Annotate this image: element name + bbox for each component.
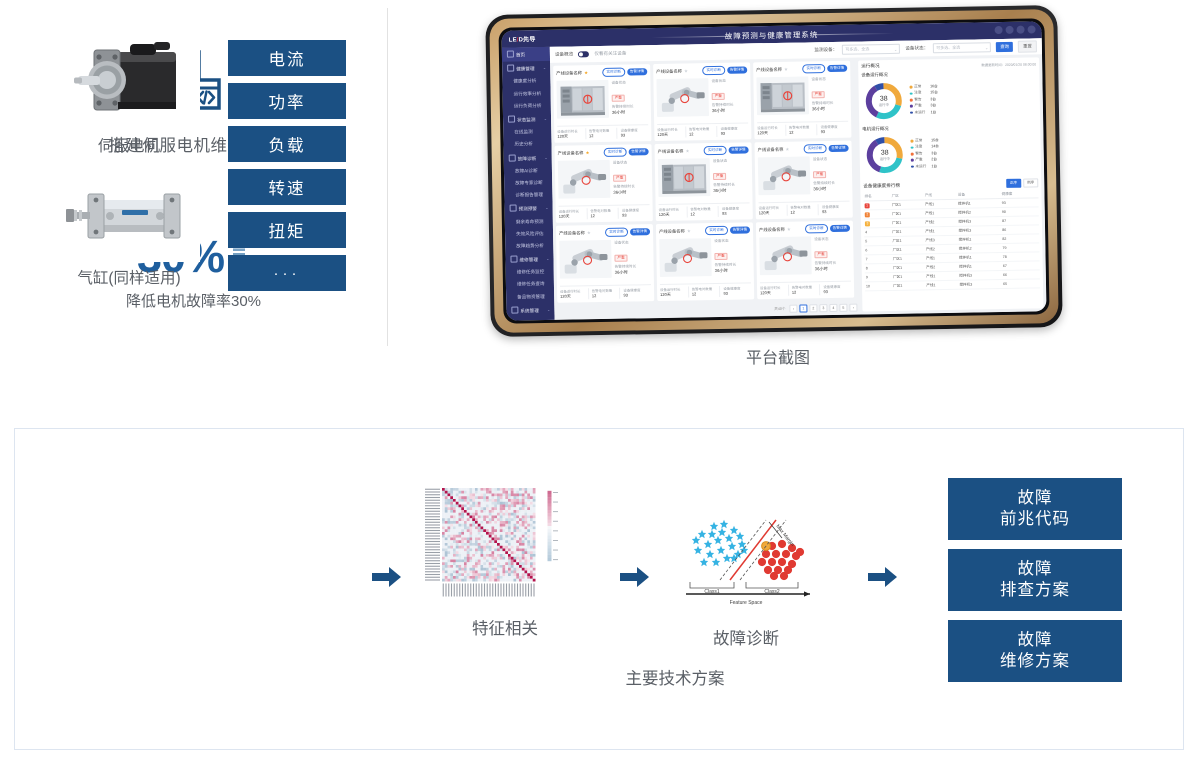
star-icon[interactable]: ★ <box>687 228 691 234</box>
arrow-right-icon <box>372 565 402 589</box>
star-icon[interactable]: ★ <box>587 230 591 236</box>
sidebar-item-1[interactable]: 健康管理⌄ <box>502 61 550 76</box>
legend-color-dot <box>910 92 913 95</box>
legend-row: 未运行 1台 <box>911 164 939 169</box>
sidebar-item-7[interactable]: 历史分析 <box>503 138 551 151</box>
svg-text:38: 38 <box>880 96 888 103</box>
device-status-label: 设备状态： <box>905 45 928 51</box>
status-value: 严重 <box>614 255 627 262</box>
metric-value: 93 <box>822 209 850 214</box>
arrow-right-icon <box>868 565 898 589</box>
rank-badge: 2 <box>865 212 870 217</box>
legend-row: 未运行 1台 <box>910 110 938 115</box>
device-metric: 设备运行时长120天 <box>559 208 587 219</box>
legend-color-dot <box>911 146 914 149</box>
device-card-title: 产线设备名称 <box>758 146 784 152</box>
output-line2: 前兆代码 <box>1000 509 1070 530</box>
device-card-title: 产线设备名称 <box>558 150 584 156</box>
legend-value: 3台 <box>930 103 936 108</box>
device-status-donut: 38 运行中 <box>861 79 906 124</box>
page-button-4[interactable]: 4 <box>829 304 837 312</box>
sidebar-item-13[interactable]: 剩余寿命预测 <box>505 215 553 228</box>
metric-value: 12 <box>689 131 717 136</box>
svg-text:运行中: 运行中 <box>880 156 891 161</box>
sidebar-item-label: 维修任务查询 <box>517 281 545 286</box>
donut2-row: 38 运行中 正常 15台 注意 14台 警告 3台 严重 2台 未运行 1台 <box>862 130 1038 177</box>
motor-status-donut: 38 运行中 <box>862 133 907 178</box>
sidebar-item-8[interactable]: 故障诊断⌄ <box>504 150 552 165</box>
alarm-duration-value: 36小时 <box>613 189 649 196</box>
metric-value: 12 <box>789 129 817 134</box>
status-value: 严重 <box>814 251 827 258</box>
star-icon[interactable]: ★ <box>784 66 788 72</box>
metric-value: 93 <box>821 129 849 134</box>
sidebar-item-label: 首页 <box>516 52 525 57</box>
star-icon[interactable]: ★ <box>685 148 689 154</box>
rank-cell: 厂区1 <box>892 281 925 291</box>
alarm-detail-button[interactable]: 告警详情 <box>730 226 750 233</box>
legend-color-dot <box>911 153 914 156</box>
sidebar-item-17[interactable]: 维修任务监控 <box>506 266 554 279</box>
realtime-diagnose-button[interactable]: 实时诊断 <box>802 64 825 73</box>
monitor-device-select[interactable]: 可多选、全选⌄ <box>842 44 900 55</box>
alarm-detail-button[interactable]: 告警详情 <box>827 65 847 72</box>
status-value: 严重 <box>813 171 826 178</box>
sidebar-item-11[interactable]: 诊断报告管理 <box>504 189 552 202</box>
tablet-bezel: LE/D先导 故障预测与健康管理系统 <box>489 9 1058 333</box>
metric-value: 12 <box>692 291 720 296</box>
device-metric: 设备健康度93 <box>719 285 751 297</box>
legend-value: 2台 <box>931 157 937 162</box>
overview-updated-time: 数据更新时间：2020/01/20 08:00:00 <box>981 61 1036 67</box>
stage-feature-correlation: 特征相关 <box>420 482 590 639</box>
device-thumbnail <box>758 156 811 195</box>
device-servo-motor-label: 伺服电机 <box>58 134 200 156</box>
alarm-detail-button[interactable]: 告警详情 <box>830 225 850 232</box>
device-card-title: 产线设备名称 <box>756 66 782 72</box>
status-value: 严重 <box>812 91 825 98</box>
legend-color-dot <box>910 99 913 102</box>
device-metric: 设备健康度93 <box>818 204 850 216</box>
legend-value: 15台 <box>931 138 939 143</box>
metric-value: 12 <box>790 209 818 214</box>
device-card-title: 产线设备名称 <box>556 70 582 76</box>
device-cylinder: 气缸(同样适用) <box>58 170 200 288</box>
sidebar-item-14[interactable]: 失效风险评估 <box>505 227 553 240</box>
legend-name: 正常 <box>914 84 928 89</box>
svg-text:Feature Space: Feature Space <box>730 600 763 606</box>
realtime-diagnose-button[interactable]: 实时诊断 <box>805 224 828 233</box>
device-card[interactable]: 产线设备名称 ★ 实时诊断 告警详情 设备状态 严重 告警持续时长 36小时 设… <box>553 64 651 143</box>
device-metric: 设备健康度93 <box>717 125 749 137</box>
device-metric: 告警电对数量12 <box>788 284 820 296</box>
realtime-diagnose-button[interactable]: 实时诊断 <box>702 66 725 75</box>
metric-value: 12 <box>590 213 618 218</box>
sidebar-item-label: 历史分析 <box>514 142 532 147</box>
correlation-heatmap <box>420 482 590 600</box>
sidebar-item-label: 运行效率分析 <box>514 91 542 96</box>
app-screen: LE/D先导 故障预测与健康管理系统 <box>502 21 1047 320</box>
sidebar-item-5[interactable]: 状态监测⌄ <box>503 112 551 127</box>
sidebar-item-10[interactable]: 故障专家诊断 <box>504 177 552 190</box>
legend-value: 1台 <box>931 110 937 115</box>
device-metric: 告警电对数量12 <box>686 206 718 218</box>
device-metric: 设备运行时长120天 <box>759 205 787 216</box>
device-card[interactable]: 产线设备名称 ★ 实时诊断 告警详情 设备状态 严重 告警持续时长 36小时 设… <box>756 221 854 300</box>
app-sidebar[interactable]: 首页健康管理⌄健康度分析运行效率分析运行负荷分析状态监测⌄在线监测历史分析故障诊… <box>502 47 555 321</box>
realtime-diagnose-button[interactable]: 实时诊断 <box>602 68 625 77</box>
sidebar-item-9[interactable]: 故障AI诊断 <box>504 165 552 178</box>
status-value: 严重 <box>613 175 626 182</box>
sidebar-item-16[interactable]: 维修管理⌄ <box>505 252 553 267</box>
alarm-detail-button[interactable]: 告警详情 <box>728 146 748 153</box>
monitor-icon <box>508 116 515 123</box>
sidebar-item-3[interactable]: 运行效率分析 <box>503 87 551 100</box>
metric-value: 12 <box>792 289 820 294</box>
device-metric: 设备运行时长120天 <box>660 287 688 298</box>
pagination[interactable]: 共40个 ‹ 12345 › <box>774 304 857 313</box>
device-cylinder-label: 气缸(同样适用) <box>58 266 200 288</box>
sidebar-item-2[interactable]: 健康度分析 <box>502 75 550 88</box>
sidebar-item-label: 失效风险评估 <box>516 231 544 236</box>
legend-row: 严重 2台 <box>911 157 939 162</box>
device-card[interactable]: 产线设备名称 ★ 实时诊断 告警详情 设备状态 严重 告警持续时长 36小时 设… <box>655 142 753 221</box>
star-icon[interactable]: ★ <box>684 68 688 74</box>
device-card[interactable]: 产线设备名称 ★ 实时诊断 告警详情 设备状态 严重 告警持续时长 36小时 设… <box>656 222 754 301</box>
svg-text:Class1: Class1 <box>704 589 720 595</box>
legend-value: 1台 <box>931 164 937 169</box>
sidebar-item-0[interactable]: 首页 <box>502 47 550 62</box>
user-icon[interactable] <box>1028 25 1036 33</box>
metric-value: 120天 <box>560 293 588 299</box>
wrench-icon <box>510 256 517 263</box>
metric-value: 12 <box>592 293 620 298</box>
sidebar-item-20[interactable]: 系统管理⌄ <box>506 303 554 318</box>
legend-color-dot <box>910 111 913 114</box>
star-icon[interactable]: ★ <box>584 70 588 76</box>
signal-box-1: 功率 <box>228 83 346 119</box>
signal-list: 电流功率负载转速扭矩··· <box>228 40 346 298</box>
heart-icon <box>507 65 514 72</box>
alarm-detail-button[interactable]: 告警详情 <box>727 66 747 73</box>
app-main: 设备概览 仅看有关注设备 监测设备： 可多选、全选⌄ 设备状态： 可多选、全选⌄… <box>550 38 1047 320</box>
sidebar-item-label: 诊断报告管理 <box>515 192 543 197</box>
sidebar-item-6[interactable]: 在线监测 <box>503 126 551 139</box>
star-icon[interactable]: ★ <box>787 226 791 232</box>
legend-color-dot <box>910 86 913 89</box>
main-scheme-caption: 主要技术方案 <box>560 665 790 689</box>
sidebar-item-label: 维修管理 <box>519 257 537 262</box>
legend-name: 未运行 <box>915 110 929 115</box>
status-value: 严重 <box>712 93 725 100</box>
rank-cell: 1 <box>864 201 891 210</box>
device-metric: 设备运行时长120天 <box>557 128 585 139</box>
legend-name: 警告 <box>915 151 929 156</box>
device-metric: 告警电对数量12 <box>586 208 618 220</box>
sidebar-item-15[interactable]: 故障趋势分析 <box>505 240 553 253</box>
device-metric: 设备运行时长120天 <box>659 207 687 218</box>
tablet-body: LE/D先导 故障预测与健康管理系统 <box>485 5 1063 337</box>
rank-tabs[interactable]: 正序倒序 <box>1006 178 1039 188</box>
metric-value: 93 <box>722 210 750 215</box>
device-card-title: 产线设备名称 <box>759 226 785 232</box>
device-thumbnail <box>659 238 712 277</box>
device-thumbnail <box>759 236 812 275</box>
vertical-divider <box>387 8 388 346</box>
device-thumbnail <box>558 160 611 199</box>
device-status-legend: 正常 16台 注意 15台 警告 3台 严重 3台 未运行 1台 <box>910 84 939 116</box>
legend-row: 注意 15台 <box>910 91 938 96</box>
rank-title: 设备健康度排行榜 <box>863 182 900 189</box>
device-status-block: 设备状态 严重 告警持续时长 36小时 <box>714 237 751 276</box>
tablet-mockup: LE/D先导 故障预测与健康管理系统 <box>478 4 1078 344</box>
page-button-2[interactable]: 2 <box>809 304 817 312</box>
sidebar-item-label: 系统管理 <box>520 308 538 313</box>
legend-value: 3台 <box>930 97 936 102</box>
minimize-icon[interactable] <box>995 26 1003 34</box>
metric-value: 12 <box>589 133 617 138</box>
legend-name: 注意 <box>915 145 929 150</box>
alarm-duration-value: 36小时 <box>615 269 651 276</box>
output-box-1: 故障 排查方案 <box>948 549 1122 611</box>
rank-cell: 5 <box>864 237 891 246</box>
star-icon[interactable]: ★ <box>785 146 789 152</box>
legend-row: 警告 3台 <box>911 151 939 156</box>
chevron-down-icon[interactable]: ⌄ <box>544 154 547 159</box>
alarm-detail-button[interactable]: 告警详情 <box>627 68 647 75</box>
device-thumbnail <box>658 158 711 197</box>
chevron-down-icon: ⌄ <box>985 45 988 50</box>
device-card-title: 产线设备名称 <box>656 68 682 74</box>
star-icon[interactable]: ★ <box>585 150 589 156</box>
pneumatic-cylinder-photo <box>58 170 200 262</box>
overview-title: 运行概况 <box>861 63 879 69</box>
device-status-block: 设备状态 严重 告警持续时长 36小时 <box>713 157 750 196</box>
realtime-diagnose-button[interactable]: 实时诊断 <box>604 148 627 157</box>
page-button-1[interactable]: 1 <box>799 304 807 312</box>
rank-badge: 3 <box>865 221 870 226</box>
rank-badge: 1 <box>865 203 870 208</box>
sidebar-item-label: 状态监测 <box>517 117 535 122</box>
device-card[interactable]: 产线设备名称 ★ 实时诊断 告警详情 设备状态 严重 告警持续时长 36小时 设… <box>754 141 852 220</box>
heatmap-caption: 特征相关 <box>420 615 590 639</box>
device-cards-area: 产线设备名称 ★ 实时诊断 告警详情 设备状态 严重 告警持续时长 36小时 设… <box>550 58 862 320</box>
maximize-icon[interactable] <box>1006 26 1014 34</box>
realtime-diagnose-button[interactable]: 实时诊断 <box>705 226 728 235</box>
metric-value: 120天 <box>760 290 788 296</box>
rank-tab[interactable]: 倒序 <box>1023 178 1038 187</box>
legend-value: 14台 <box>931 145 939 150</box>
device-thumbnail <box>559 240 612 279</box>
monitor-device-label: 监测设备： <box>814 47 837 53</box>
sidebar-item-label: 故障趋势分析 <box>516 243 544 248</box>
device-card[interactable]: 产线设备名称 ★ 实时诊断 告警详情 设备状态 严重 告警持续时长 36小时 设… <box>556 224 654 303</box>
legend-value: 3台 <box>931 151 937 156</box>
device-card-title: 产线设备名称 <box>559 230 585 236</box>
app-content: 产线设备名称 ★ 实时诊断 告警详情 设备状态 严重 告警持续时长 36小时 设… <box>550 54 1046 320</box>
table-row[interactable]: 10厂区1产线1搅拌机365 <box>865 279 1040 291</box>
rank-cell: 产线1 <box>925 280 958 290</box>
device-metric: 设备健康度93 <box>718 205 750 217</box>
motor-status-legend: 正常 15台 注意 14台 警告 3台 严重 2台 未运行 1台 <box>910 138 939 170</box>
svg-text:运行中: 运行中 <box>879 102 890 107</box>
device-status-block: 设备状态 严重 告警持续时长 36小时 <box>611 79 648 118</box>
query-button[interactable]: 查询 <box>996 42 1013 51</box>
rank-cell: 搅拌机3 <box>958 280 1002 290</box>
device-metric: 设备健康度93 <box>819 284 851 296</box>
metric-value: 120天 <box>660 292 688 298</box>
stage-fault-diagnosis: Max MarginClass1Class2Feature Space 故障诊断 <box>672 512 820 649</box>
gear-icon <box>511 306 518 313</box>
output-box-0: 故障 前兆代码 <box>948 478 1122 540</box>
sidebar-item-label: 故障AI诊断 <box>515 168 538 173</box>
rank-cell: 3 <box>864 219 891 228</box>
rank-cell: 7 <box>864 255 891 264</box>
legend-row: 警告 3台 <box>910 97 938 102</box>
overview-label: 设备概览 <box>555 51 573 57</box>
rank-tab[interactable]: 正序 <box>1006 179 1021 188</box>
svg-text:38: 38 <box>881 149 889 156</box>
output-box-2: 故障 维修方案 <box>948 620 1122 682</box>
reset-button[interactable]: 重置 <box>1018 41 1037 53</box>
legend-value: 16台 <box>930 84 938 89</box>
close-icon[interactable] <box>1017 26 1025 34</box>
signal-box-0: 电流 <box>228 40 346 76</box>
svm-classification-plot: Max MarginClass1Class2Feature Space <box>672 512 820 612</box>
status-value: 严重 <box>714 253 727 260</box>
rank-cell: 4 <box>864 228 891 237</box>
device-metric: 告警电对数量12 <box>588 288 620 300</box>
sidebar-item-4[interactable]: 运行负荷分析 <box>503 100 551 113</box>
donut1-row: 38 运行中 正常 16台 注意 15台 警告 3台 严重 3台 未运行 1台 <box>861 76 1037 123</box>
device-status-select[interactable]: 可多选、全选⌄ <box>933 42 991 53</box>
sidebar-item-label: 运行负荷分析 <box>514 103 542 108</box>
device-metric: 告警电对数量12 <box>688 286 720 298</box>
legend-row: 注意 14台 <box>911 145 939 150</box>
device-status-block: 设备状态 严重 告警持续时长 36小时 <box>614 239 651 278</box>
device-card[interactable]: 产线设备名称 ★ 实时诊断 告警详情 设备状态 严重 告警持续时长 36小时 设… <box>555 144 653 223</box>
chevron-down-icon[interactable]: ⌄ <box>543 65 546 70</box>
sidebar-item-label: 故障专家诊断 <box>515 180 543 185</box>
realtime-diagnose-button[interactable]: 实时诊断 <box>605 228 628 237</box>
chevron-down-icon[interactable]: ⌄ <box>547 307 550 312</box>
sidebar-item-label: 在线监测 <box>514 129 532 134</box>
output-line1: 故障 <box>1018 630 1053 651</box>
alarm-duration-value: 36小时 <box>815 266 851 273</box>
chevron-down-icon[interactable]: ⌄ <box>544 116 547 121</box>
output-line2: 排查方案 <box>1000 580 1070 601</box>
home-icon <box>507 51 514 58</box>
sidebar-item-label: 备品物资管理 <box>517 294 545 299</box>
output-boxes: 故障 前兆代码 故障 排查方案 故障 维修方案 <box>948 478 1122 691</box>
legend-value: 15台 <box>930 91 938 96</box>
legend-row: 正常 15台 <box>910 138 938 143</box>
signal-box-4: 扭矩 <box>228 212 346 248</box>
device-thumbnail <box>756 76 809 115</box>
legend-row: 正常 16台 <box>910 84 938 89</box>
device-status-block: 设备状态 严重 告警持续时长 36小时 <box>813 156 850 195</box>
device-servo-motor: 伺服电机 <box>58 38 200 156</box>
device-card[interactable]: 产线设备名称 ★ 实时诊断 告警详情 设备状态 严重 告警持续时长 36小时 设… <box>753 61 851 140</box>
chevron-down-icon[interactable]: ⌄ <box>545 205 548 210</box>
device-card-title: 产线设备名称 <box>659 228 685 234</box>
device-column: 伺服电机 气缸(同样适用) <box>58 38 200 288</box>
legend-name: 注意 <box>914 91 928 96</box>
output-line2: 维修方案 <box>1000 651 1070 672</box>
device-metric: 设备运行时长120天 <box>757 125 785 136</box>
alarm-detail-button[interactable]: 告警详情 <box>828 145 848 152</box>
total-count: 共40个 <box>774 306 785 311</box>
metric-value: 93 <box>823 289 851 294</box>
metric-value: 120天 <box>559 213 587 219</box>
tablet-caption: 平台截图 <box>478 344 1078 368</box>
metric-value: 93 <box>622 212 650 217</box>
sidebar-item-19[interactable]: 备品物资管理 <box>506 290 554 303</box>
alarm-duration-value: 36小时 <box>712 107 748 114</box>
sidebar-item-label: 剩余寿命预测 <box>516 219 544 224</box>
sidebar-item-18[interactable]: 维修任务查询 <box>506 278 554 291</box>
device-metric: 设备运行时长120天 <box>657 127 685 138</box>
device-metric: 告警电对数量12 <box>785 124 817 136</box>
status-value: 严重 <box>713 173 726 180</box>
next-page-button[interactable]: › <box>849 304 857 312</box>
chevron-down-icon[interactable]: ⌄ <box>546 256 549 261</box>
metric-value: 120天 <box>659 212 687 218</box>
prev-page-button[interactable]: ‹ <box>789 305 797 313</box>
metric-value: 93 <box>723 290 751 295</box>
chevron-down-icon: ⌄ <box>894 46 897 51</box>
signal-box-3: 转速 <box>228 169 346 205</box>
metric-value: 120天 <box>757 130 785 136</box>
alarm-detail-button[interactable]: 告警详情 <box>628 148 648 155</box>
legend-name: 未运行 <box>915 164 929 169</box>
sidebar-item-label: 健康度分析 <box>513 79 536 84</box>
device-metric: 设备健康度93 <box>618 207 650 219</box>
legend-color-dot <box>910 140 913 143</box>
sidebar-item-12[interactable]: 预测预警⌄ <box>504 201 552 216</box>
metric-value: 93 <box>623 292 651 297</box>
starred-only-toggle[interactable] <box>578 51 589 57</box>
status-value: 严重 <box>612 95 625 102</box>
realtime-diagnose-button[interactable]: 实时诊断 <box>804 144 827 153</box>
device-card[interactable]: 产线设备名称 ★ 实时诊断 告警详情 设备状态 严重 告警持续时长 36小时 设… <box>653 62 751 141</box>
window-buttons[interactable] <box>995 25 1036 34</box>
device-metric: 告警电对数量12 <box>685 126 717 138</box>
alarm-duration-value: 36小时 <box>713 187 749 194</box>
metric-value: 120天 <box>557 133 585 139</box>
page-button-5[interactable]: 5 <box>839 304 847 312</box>
device-status-block: 设备状态 严重 告警持续时长 36小时 <box>814 236 851 275</box>
legend-name: 正常 <box>915 138 929 143</box>
sidebar-item-label: 预测预警 <box>519 206 537 211</box>
realtime-diagnose-button[interactable]: 实时诊断 <box>704 146 727 155</box>
rank-cell: 8 <box>865 264 892 273</box>
diagnose-icon <box>509 154 516 161</box>
rank-cell: 2 <box>864 210 891 219</box>
alarm-detail-button[interactable]: 告警详情 <box>630 228 650 235</box>
device-metric: 告警电对数量12 <box>786 204 818 216</box>
page-button-3[interactable]: 3 <box>819 304 827 312</box>
tablet-inner: LE/D先导 故障预测与健康管理系统 <box>498 18 1049 323</box>
alarm-duration-value: 36小时 <box>812 106 848 113</box>
device-metric: 设备运行时长120天 <box>560 288 588 299</box>
svg-text:Class2: Class2 <box>764 589 780 595</box>
signal-box-5: ··· <box>228 255 346 291</box>
metric-value: 120天 <box>657 132 685 138</box>
health-rank-table: 排名厂区产线设备健康度 1厂区1产线1搅拌机1932厂区1产线1搅拌机2903厂… <box>863 189 1040 291</box>
device-status-block: 设备状态 严重 告警持续时长 36小时 <box>613 159 650 198</box>
output-line1: 故障 <box>1018 559 1053 580</box>
